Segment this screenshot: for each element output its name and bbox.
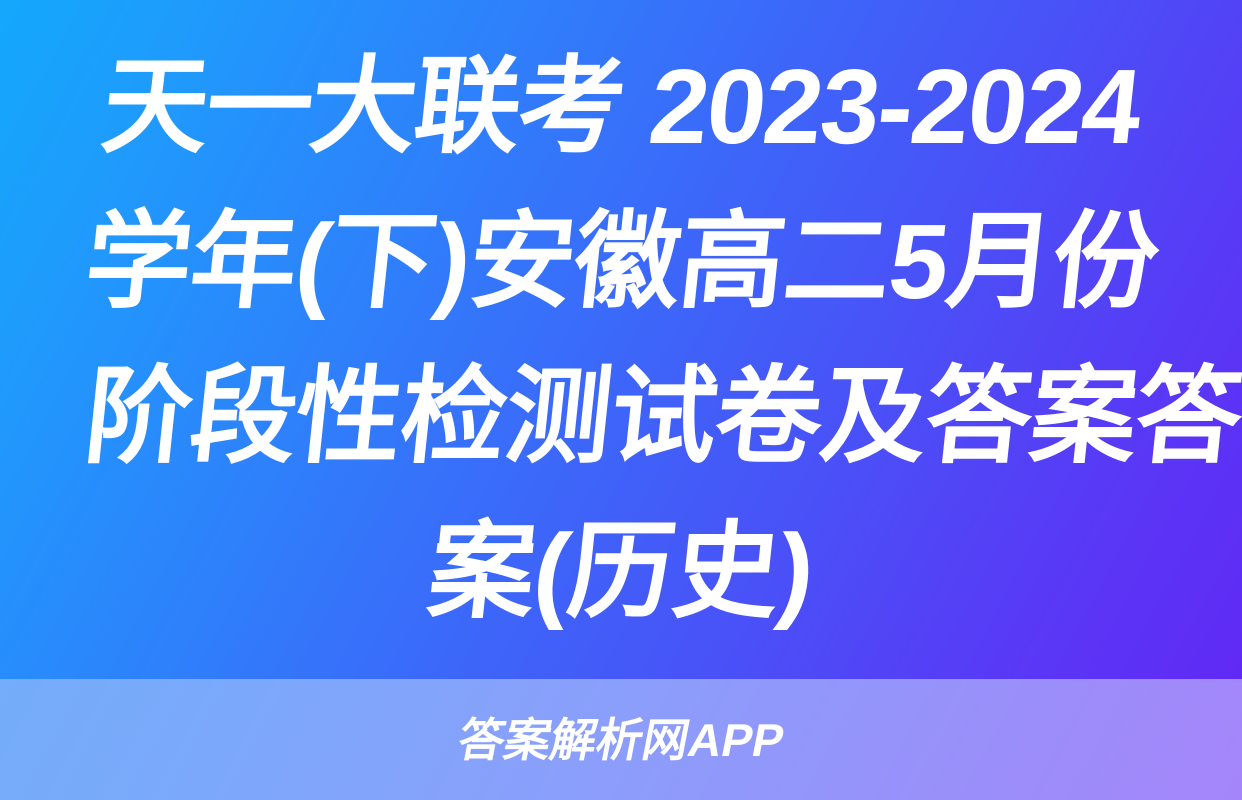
- title-line-3: 阶段性检测试卷及答案答: [78, 340, 1164, 495]
- title-line-4: 案(历史): [78, 495, 1164, 650]
- title-line-1: 天一大联考 2023-2024: [78, 30, 1164, 185]
- title-block: 天一大联考 2023-2024 学年(下)安徽高二5月份 阶段性检测试卷及答案答…: [0, 0, 1242, 679]
- exam-cover-card: 天一大联考 2023-2024 学年(下)安徽高二5月份 阶段性检测试卷及答案答…: [0, 0, 1242, 800]
- watermark-brand-label: 答案解析网APP: [454, 717, 788, 763]
- title-line-2: 学年(下)安徽高二5月份: [78, 185, 1164, 340]
- watermark-band: 答案解析网APP: [0, 679, 1242, 800]
